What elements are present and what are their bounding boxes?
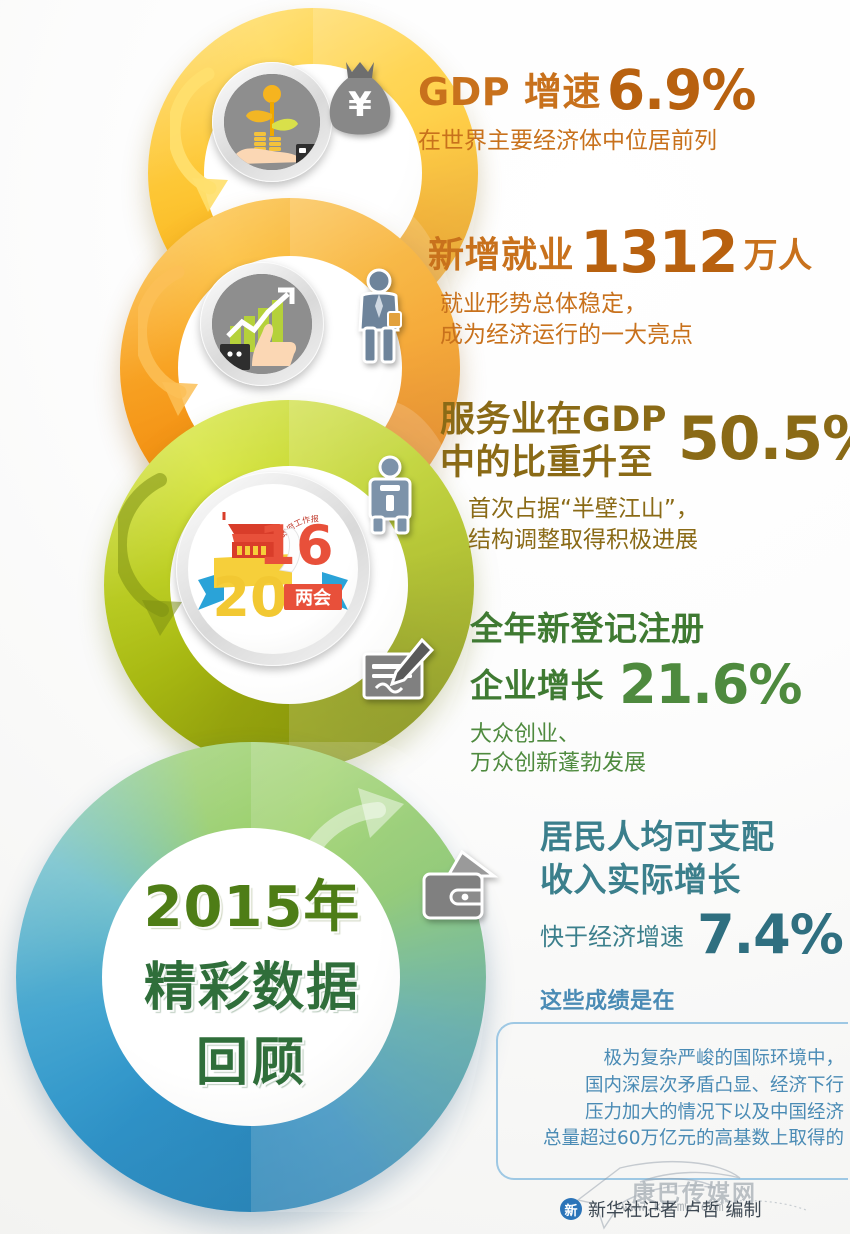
- stat-gdp-label: GDP 增速: [418, 70, 601, 114]
- money-bag-yuan-icon: ¥: [322, 58, 398, 146]
- stat-employment-value: 1312: [580, 218, 737, 286]
- stat-gdp-value: 6.9%: [607, 58, 756, 122]
- stat-enterprises-desc-1: 大众创业、: [470, 720, 801, 750]
- xinhua-logo-icon: 新: [560, 1198, 582, 1220]
- center-title-line-1: 2015年: [102, 862, 402, 943]
- stat-employment-desc-2: 成为经济运行的一大亮点: [440, 320, 813, 351]
- stat-enterprises-desc-2: 万众创新蓬勃发展: [470, 749, 801, 779]
- stat-services-desc-2: 结构调整取得积极进展: [468, 525, 850, 556]
- stat-block-employment: 新增就业 1312 万人 就业形势总体稳定， 成为经济运行的一大亮点: [428, 222, 813, 351]
- callout-body: 极为复杂严峻的国际环境中， 国内深层次矛盾凸显、经济下行 压力加大的情况下以及中…: [496, 1032, 848, 1153]
- callout-lead: 这些成绩是在: [540, 990, 675, 1013]
- businessman-icon: [348, 268, 410, 364]
- footer-credit-text: 新华社记者 卢哲 编制: [588, 1196, 761, 1222]
- center-title: 2015年 精彩数据 回顾: [102, 862, 402, 1095]
- service-person-icon: [362, 455, 418, 535]
- svg-text:¥: ¥: [348, 85, 372, 125]
- callout-line-3: 压力加大的情况下以及中国经济: [496, 1100, 844, 1127]
- stat-block-income: 居民人均可支配 收入实际增长 快于经济增速 7.4%: [540, 820, 843, 966]
- center-title-line-2: 精彩数据: [102, 945, 402, 1020]
- callout-lead-text: 这些成绩是在: [540, 990, 675, 1013]
- stat-income-label-2: 收入实际增长: [540, 863, 843, 898]
- wallet-house-icon: [418, 848, 500, 928]
- signing-document-icon: [360, 638, 436, 708]
- stat-enterprises-label-2: 企业增长: [470, 666, 604, 705]
- stat-income-prefix: 快于经济增速: [540, 923, 684, 951]
- stat-income-value-row: 快于经济增速 7.4%: [540, 903, 843, 966]
- two-sessions-label: 两会: [295, 587, 331, 609]
- stat-block-enterprises: 全年新登记注册 企业增长 21.6% 大众创业、 万众创新蓬勃发展: [470, 612, 801, 779]
- stat-gdp-headline: GDP 增速 6.9%: [418, 62, 755, 120]
- stat-services-headline: 服务业在GDP 中的比重升至 50.5%: [440, 402, 850, 482]
- infographic-page: ¥ GDP 增速 6.9% 在世界主要经济体中位居前列: [0, 0, 850, 1234]
- stat-enterprises-value: 21.6%: [619, 653, 801, 716]
- stat-services-label-wrap: 服务业在GDP 中的比重升至: [440, 402, 667, 482]
- two-sessions-2016-icon: 政府工作报告 16 20 两会: [176, 472, 370, 666]
- stat-services-desc-1: 首次占据“半壁江山”，: [468, 494, 850, 525]
- center-title-line-3: 回顾: [102, 1020, 402, 1095]
- stat-gdp-desc-1: 在世界主要经济体中位居前列: [418, 126, 755, 157]
- stat-block-gdp: GDP 增速 6.9% 在世界主要经济体中位居前列: [418, 62, 755, 157]
- thumbs-up-chart-icon: [200, 262, 324, 386]
- stat-enterprises-headline-2: 企业增长 21.6%: [470, 653, 801, 716]
- stat-services-label-2: 中的比重升至: [440, 445, 667, 482]
- stat-services-value: 50.5%: [678, 404, 850, 474]
- hand-coins-plant-icon: [212, 62, 332, 182]
- callout-line-4: 总量超过60万亿元的高基数上取得的: [496, 1126, 844, 1153]
- stat-income-value: 7.4%: [697, 903, 843, 966]
- stat-employment-headline: 新增就业 1312 万人: [428, 222, 813, 283]
- footer-credit: 新 新华社记者 卢哲 编制: [560, 1192, 850, 1226]
- stat-services-label-1: 服务业在GDP: [440, 402, 667, 439]
- stat-income-label-1: 居民人均可支配: [540, 820, 843, 855]
- stat-enterprises-label-1: 全年新登记注册: [470, 612, 801, 647]
- two-sessions-20: 20: [212, 566, 287, 629]
- stat-employment-desc-1: 就业形势总体稳定，: [440, 289, 813, 320]
- stat-employment-label: 新增就业: [428, 235, 574, 276]
- stat-employment-unit: 万人: [744, 236, 813, 276]
- stat-block-services: 服务业在GDP 中的比重升至 50.5% 首次占据“半壁江山”， 结构调整取得积…: [440, 402, 850, 556]
- callout-line-2: 国内深层次矛盾凸显、经济下行: [496, 1073, 844, 1100]
- callout-line-1: 极为复杂严峻的国际环境中，: [496, 1046, 844, 1073]
